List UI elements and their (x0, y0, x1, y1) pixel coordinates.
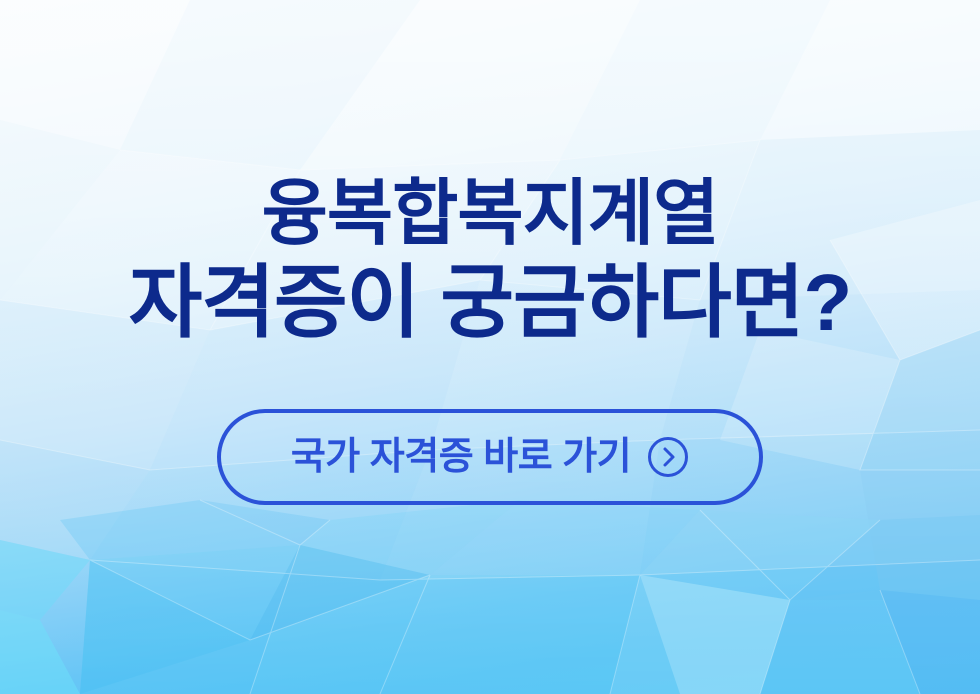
promo-banner: 융복합복지계열 자격증이 궁금하다면? 국가 자격증 바로 가기 (0, 0, 980, 694)
cta-button-label: 국가 자격증 바로 가기 (291, 438, 631, 476)
banner-content: 융복합복지계열 자격증이 궁금하다면? 국가 자격증 바로 가기 (0, 0, 980, 694)
cta-container: 국가 자격증 바로 가기 (0, 409, 980, 505)
headline-line-2: 자격증이 궁금하다면? (0, 263, 980, 343)
headline-line-1: 융복합복지계열 (0, 178, 980, 250)
chevron-right-circle-icon (647, 436, 689, 478)
national-certificate-link-button[interactable]: 국가 자격증 바로 가기 (217, 409, 763, 505)
